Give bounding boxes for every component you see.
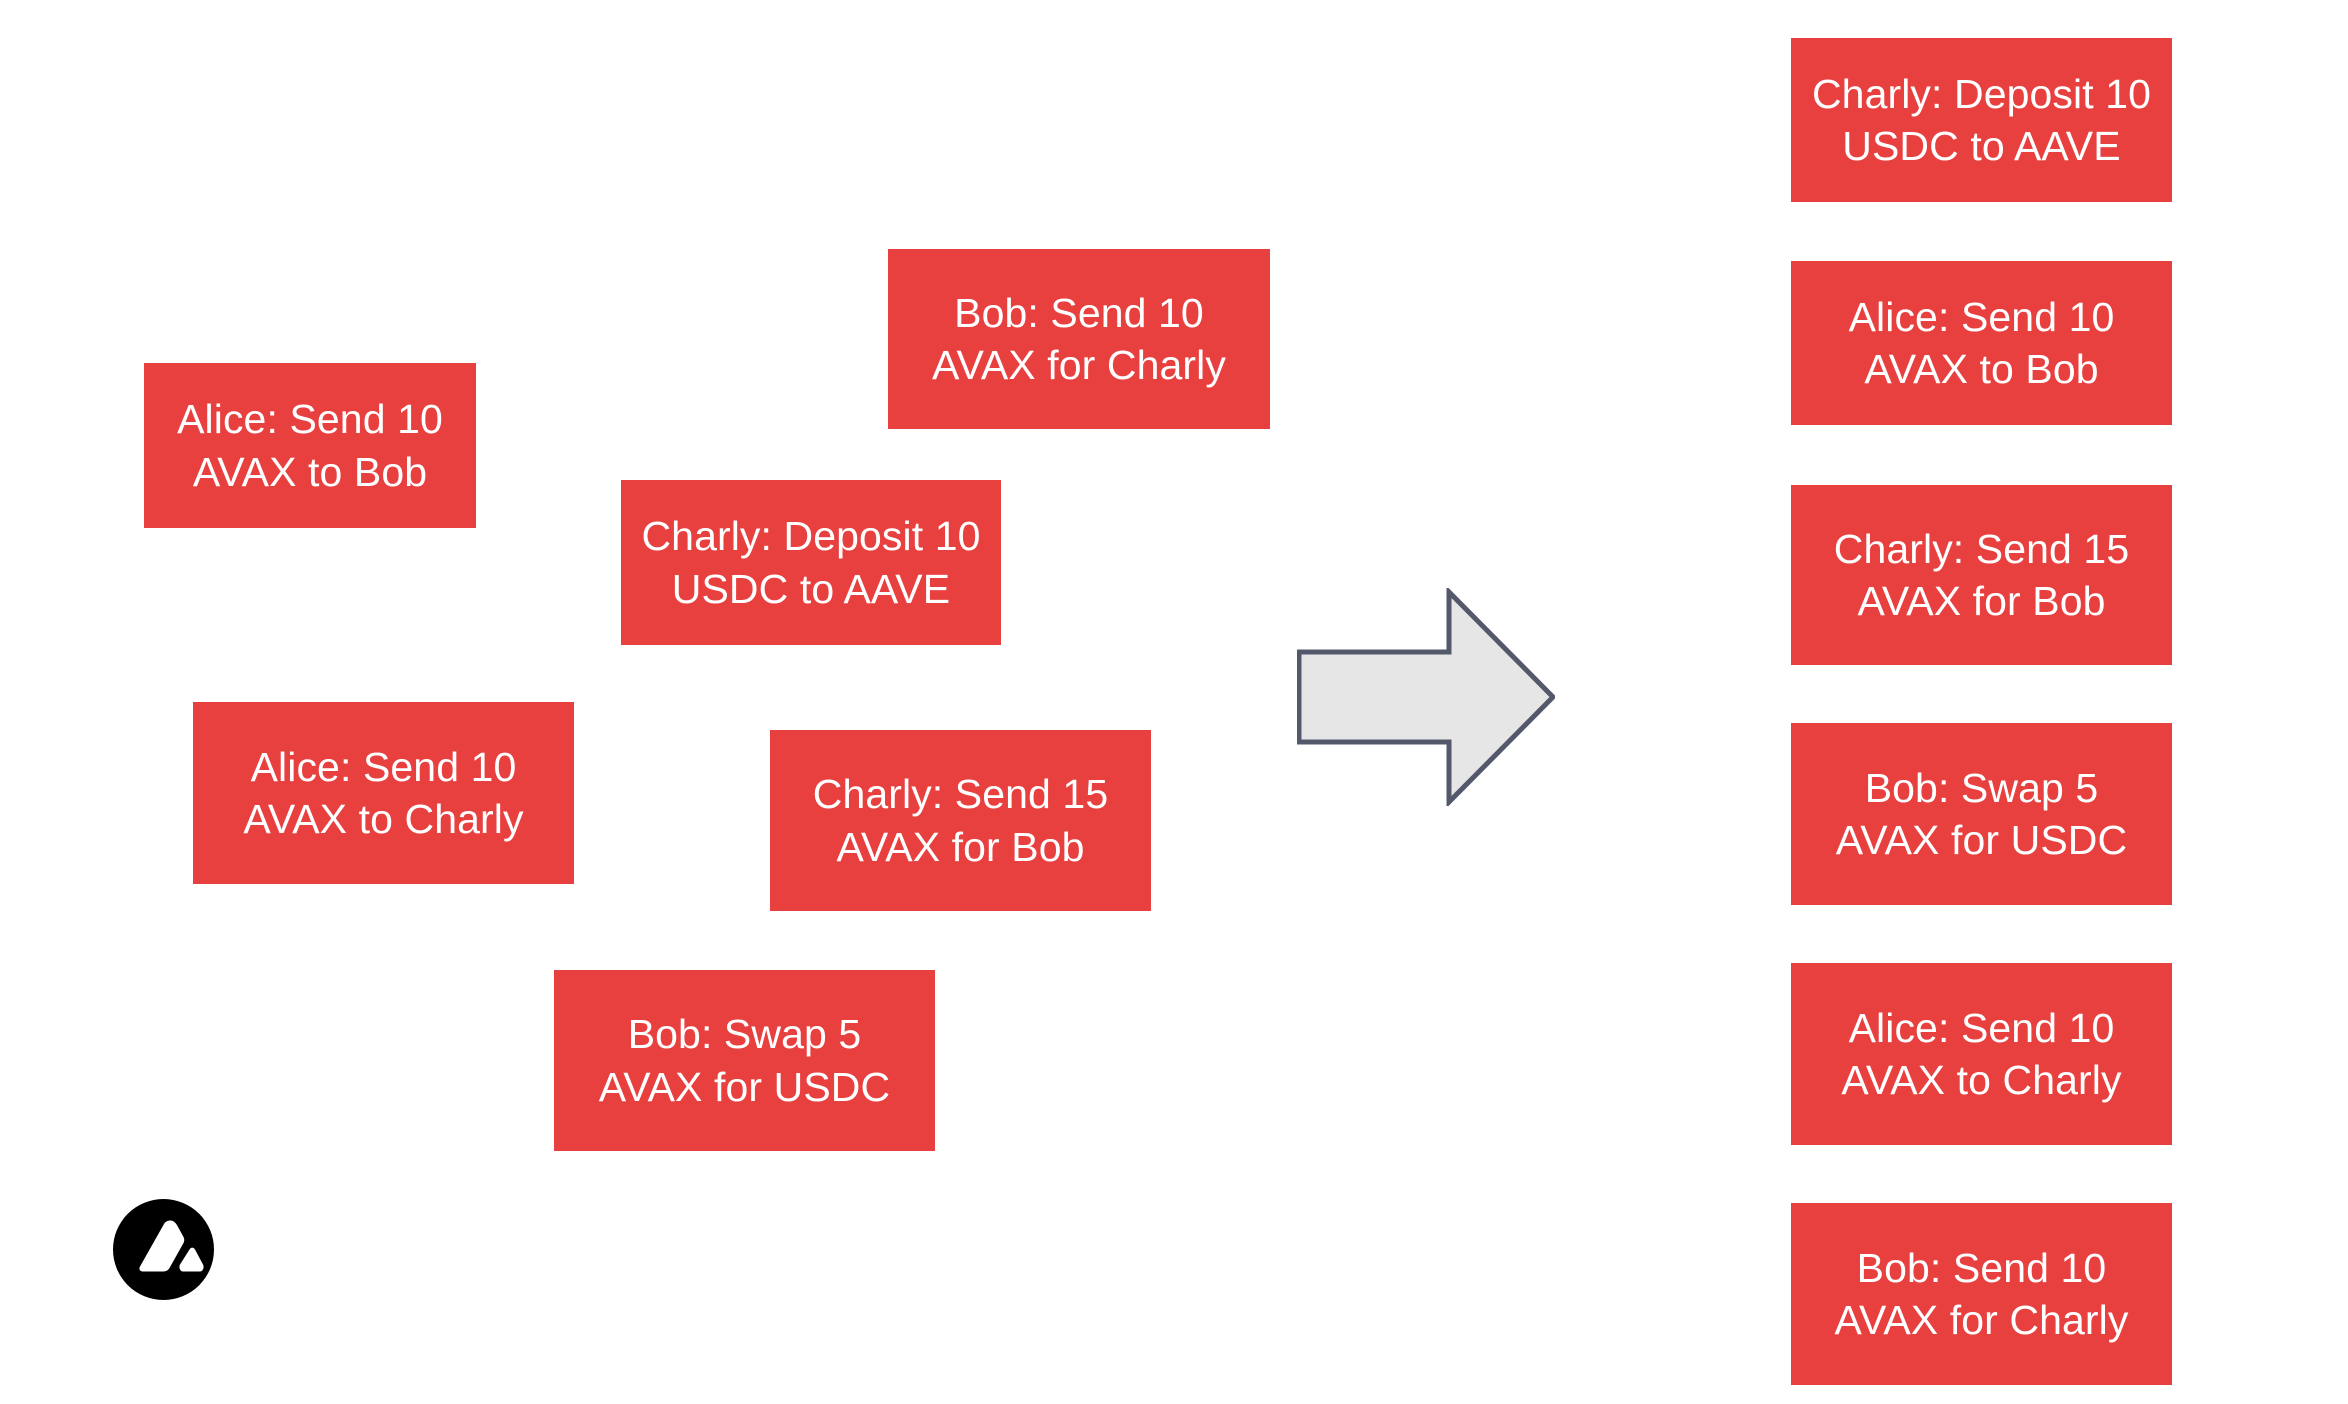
tx-bob-send-10-avax-for-charly[interactable]: Bob: Send 10 AVAX for Charly xyxy=(888,249,1270,429)
tx-box-label: Charly: Deposit 10 USDC to AAVE xyxy=(641,510,980,615)
ordered-tx-6-bob-send-10-avax-for-charly[interactable]: Bob: Send 10 AVAX for Charly xyxy=(1791,1203,2172,1385)
ordered-tx-label: Bob: Swap 5 AVAX for USDC xyxy=(1836,762,2127,867)
tx-alice-send-10-avax-to-charly[interactable]: Alice: Send 10 AVAX to Charly xyxy=(193,702,574,884)
ordered-tx-1-charly-deposit-10-usdc-to-aave[interactable]: Charly: Deposit 10 USDC to AAVE xyxy=(1791,38,2172,202)
tx-bob-swap-5-avax-for-usdc[interactable]: Bob: Swap 5 AVAX for USDC xyxy=(554,970,935,1151)
avalanche-logo xyxy=(113,1199,214,1300)
ordered-tx-3-charly-send-15-avax-for-bob[interactable]: Charly: Send 15 AVAX for Bob xyxy=(1791,485,2172,665)
arrow-shape xyxy=(1299,592,1553,802)
avalanche-logo-svg xyxy=(113,1199,214,1300)
tx-charly-send-15-avax-for-bob[interactable]: Charly: Send 15 AVAX for Bob xyxy=(770,730,1151,911)
tx-box-label: Alice: Send 10 AVAX to Charly xyxy=(243,741,523,846)
diagram-canvas: Alice: Send 10 AVAX to BobBob: Send 10 A… xyxy=(0,0,2348,1404)
tx-alice-send-10-avax-to-bob[interactable]: Alice: Send 10 AVAX to Bob xyxy=(144,363,476,528)
ordered-tx-2-alice-send-10-avax-to-bob[interactable]: Alice: Send 10 AVAX to Bob xyxy=(1791,261,2172,425)
right-arrow-icon xyxy=(1297,588,1555,806)
ordered-tx-label: Charly: Deposit 10 USDC to AAVE xyxy=(1812,68,2151,173)
ordered-tx-label: Bob: Send 10 AVAX for Charly xyxy=(1835,1242,2129,1347)
ordered-tx-label: Alice: Send 10 AVAX to Charly xyxy=(1841,1002,2121,1107)
tx-box-label: Charly: Send 15 AVAX for Bob xyxy=(813,768,1109,873)
tx-box-label: Bob: Swap 5 AVAX for USDC xyxy=(599,1008,890,1113)
tx-box-label: Bob: Send 10 AVAX for Charly xyxy=(932,287,1226,392)
ordered-tx-4-bob-swap-5-avax-for-usdc[interactable]: Bob: Swap 5 AVAX for USDC xyxy=(1791,723,2172,905)
tx-box-label: Alice: Send 10 AVAX to Bob xyxy=(177,393,443,498)
right-arrow-svg xyxy=(1297,588,1555,806)
tx-charly-deposit-10-usdc-to-aave[interactable]: Charly: Deposit 10 USDC to AAVE xyxy=(621,480,1001,645)
ordered-tx-5-alice-send-10-avax-to-charly[interactable]: Alice: Send 10 AVAX to Charly xyxy=(1791,963,2172,1145)
ordered-tx-label: Alice: Send 10 AVAX to Bob xyxy=(1849,291,2115,396)
ordered-tx-label: Charly: Send 15 AVAX for Bob xyxy=(1834,523,2130,628)
